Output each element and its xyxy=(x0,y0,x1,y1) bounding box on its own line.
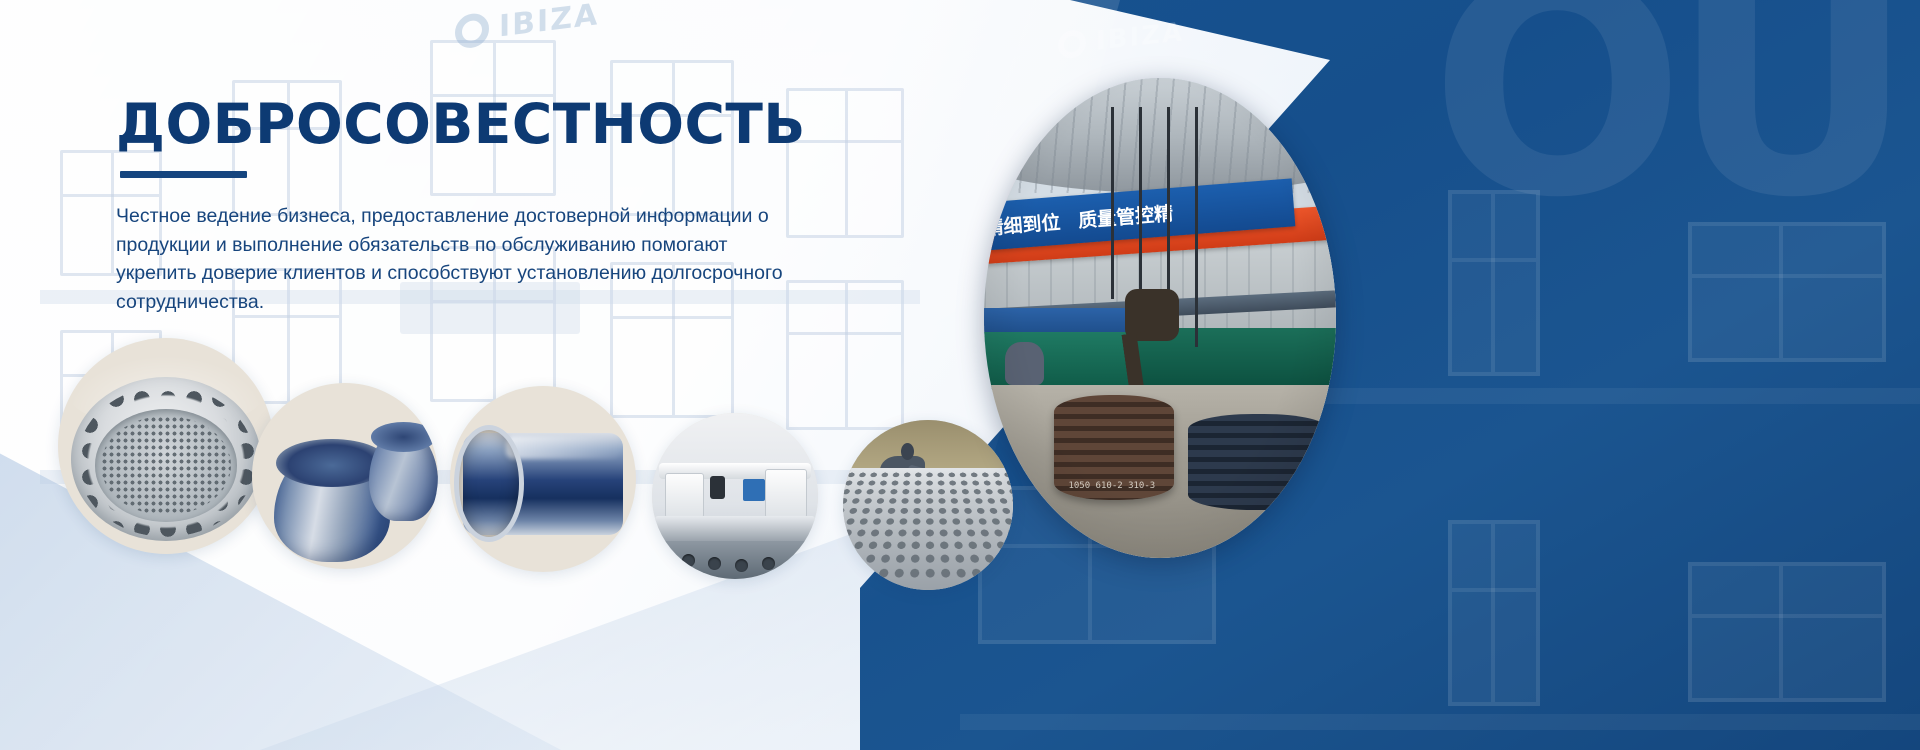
forged-ring-stack-dark xyxy=(1188,414,1329,510)
page-title: ДОБРОСОВЕСТНОСТЬ xyxy=(116,96,876,154)
hero-paragraph: Честное ведение бизнеса, предоставление … xyxy=(116,202,806,317)
product-circle-cone-reducer[interactable] xyxy=(252,383,438,569)
hero-copy-block: ДОБРОСОВЕСТНОСТЬ Честное ведение бизнеса… xyxy=(116,96,876,317)
crane-chain xyxy=(1111,107,1114,299)
title-underline-rule xyxy=(120,171,247,178)
slogan-text-right: 质量管控精 xyxy=(1077,198,1174,232)
crane-chain xyxy=(1195,107,1198,347)
workshop-roof xyxy=(984,78,1336,193)
ibiza-ring-icon xyxy=(1058,29,1086,60)
ibiza-ring-icon xyxy=(455,11,489,49)
worker-figure xyxy=(1005,342,1044,385)
hero-banner: OUS IBIZA IBIZA ДОБРОСОВЕСТНОСТЬ Честное… xyxy=(0,0,1920,750)
cylinder-shell-image xyxy=(450,386,636,572)
cone-reducer-image xyxy=(252,383,438,569)
panel-ghost-letters: OUS xyxy=(1430,0,1920,750)
cnc-machine-image xyxy=(652,413,818,579)
tube-sheet-image xyxy=(58,338,274,554)
product-circle-tube-sheet[interactable] xyxy=(58,338,274,554)
product-circle-cnc-machine[interactable] xyxy=(652,413,818,579)
part-label: 1050 610-2 310-3 xyxy=(1068,481,1155,491)
workshop-photo[interactable]: 精细到位 质量管控精 1050 610-2 310-3 xyxy=(984,78,1336,558)
crane-chain xyxy=(1139,107,1142,318)
slogan-text-left: 精细到位 xyxy=(984,207,1061,240)
product-circle-cylinder-shell[interactable] xyxy=(450,386,636,572)
